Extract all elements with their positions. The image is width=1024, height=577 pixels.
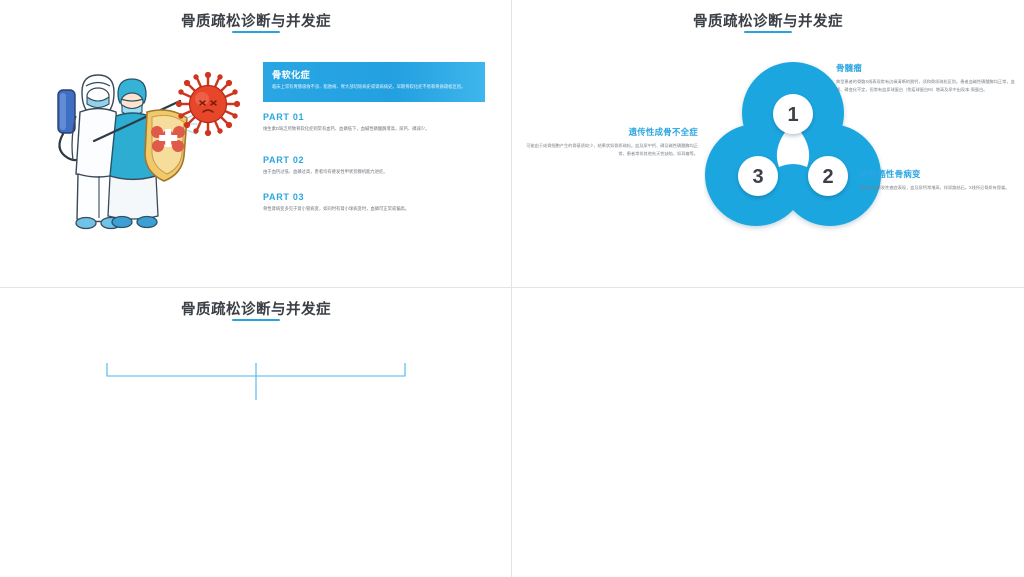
grid-divider-vertical [511,0,512,577]
medical-workers-shield-virus-illustration [30,46,240,241]
slide-diagnosis-1: 骨质疏松诊断与并发症 [0,0,512,288]
grid-divider-horizontal [0,287,1024,288]
trefoil-node-2: 2 [822,166,833,188]
item-body: 典型患者的骨骼X线表现常有边缘清断的脱钙，须和骨质疏松区别。患者血碱性磷酸酶均正… [836,78,1016,93]
part-body: 骨性肾病变多见于肾小管病变，如同时有肾小球病变时，血磷可正常或偏高。 [263,205,491,213]
trefoil-node-1: 1 [787,104,798,126]
item-body: 可能由于成骨细胞产生的骨基质较少，结果状如骨质疏松。血及尿中钙、磷及碱性磷酸酶均… [526,142,698,157]
slide-part-04: PART 04 骨质疏松治疗 Pleaseaddaclearbusinesste… [512,288,1024,577]
item-body: 临床上有原发性癌症表现，血及尿钙常增高，伴尿路结石。X线所见骨质有侵袭。 [860,184,1020,192]
page-title: 骨质疏松诊断与并发症 [512,10,1024,31]
part-block-03: PART 03 骨性肾病变多见于肾小管病变，如同时有肾小球病变时，血磷可正常或偏… [263,192,491,213]
part-block-01: PART 01 维生素D缺乏所致骨软化症则常有血钙、血磷低下，血碱性磷酸酶增高，… [263,112,491,133]
part-body: 由于血钙过低、血磷过高，患者均有继发性甲状旁腺机能亢进症。 [263,168,491,176]
trefoil-item-3: 遗传性成骨不全症 可能由于成骨细胞产生的骨基质较少，结果状如骨质疏松。血及尿中钙… [526,126,698,157]
part-body: 维生素D缺乏所致骨软化症则常有血钙、血磷低下，血碱性磷酸酶增高，尿钙、磷减少。 [263,125,491,133]
slide-diagnosis-2: 骨质疏松诊断与并发症 [512,0,1024,288]
page-title: 骨质疏松诊断与并发症 [0,10,512,31]
trefoil-node-3: 3 [752,166,763,188]
callout-heading: 骨软化症 [272,67,477,81]
part-label: PART 02 [263,155,491,165]
slide-complications: 骨质疏松诊断与并发症 最常见的并发症 骨质疏松症骨折发生多在扭转身体、持物、开窗… [0,288,512,577]
trefoil-item-2: 转移癌性骨病变 临床上有原发性癌症表现，血及尿钙常增高，伴尿路结石。X线所见骨质… [860,168,1020,192]
item-heading: 遗传性成骨不全症 [526,126,698,138]
title-underline [232,31,280,33]
part-block-02: PART 02 由于血钙过低、血磷过高，患者均有继发性甲状旁腺机能亢进症。 [263,155,491,176]
part-label: PART 01 [263,112,491,122]
callout-body: 临床上常有胃肠吸收不良、脂肪痢、胃大部切除病史或肾病病史。早期骨软化症不易和骨质… [272,83,477,90]
item-heading: 转移癌性骨病变 [860,168,1020,180]
trefoil-item-1: 骨髓瘤 典型患者的骨骼X线表现常有边缘清断的脱钙，须和骨质疏松区别。患者血碱性磷… [836,62,1016,93]
item-heading: 骨髓瘤 [836,62,1016,74]
part-label: PART 03 [263,192,491,202]
slide-grid: 骨质疏松诊断与并发症 [0,0,1024,577]
callout-box: 骨软化症 临床上常有胃肠吸收不良、脂肪痢、胃大部切除病史或肾病病史。早期骨软化症… [263,62,485,102]
complications-connector-lines [0,288,512,577]
title-underline [744,31,792,33]
